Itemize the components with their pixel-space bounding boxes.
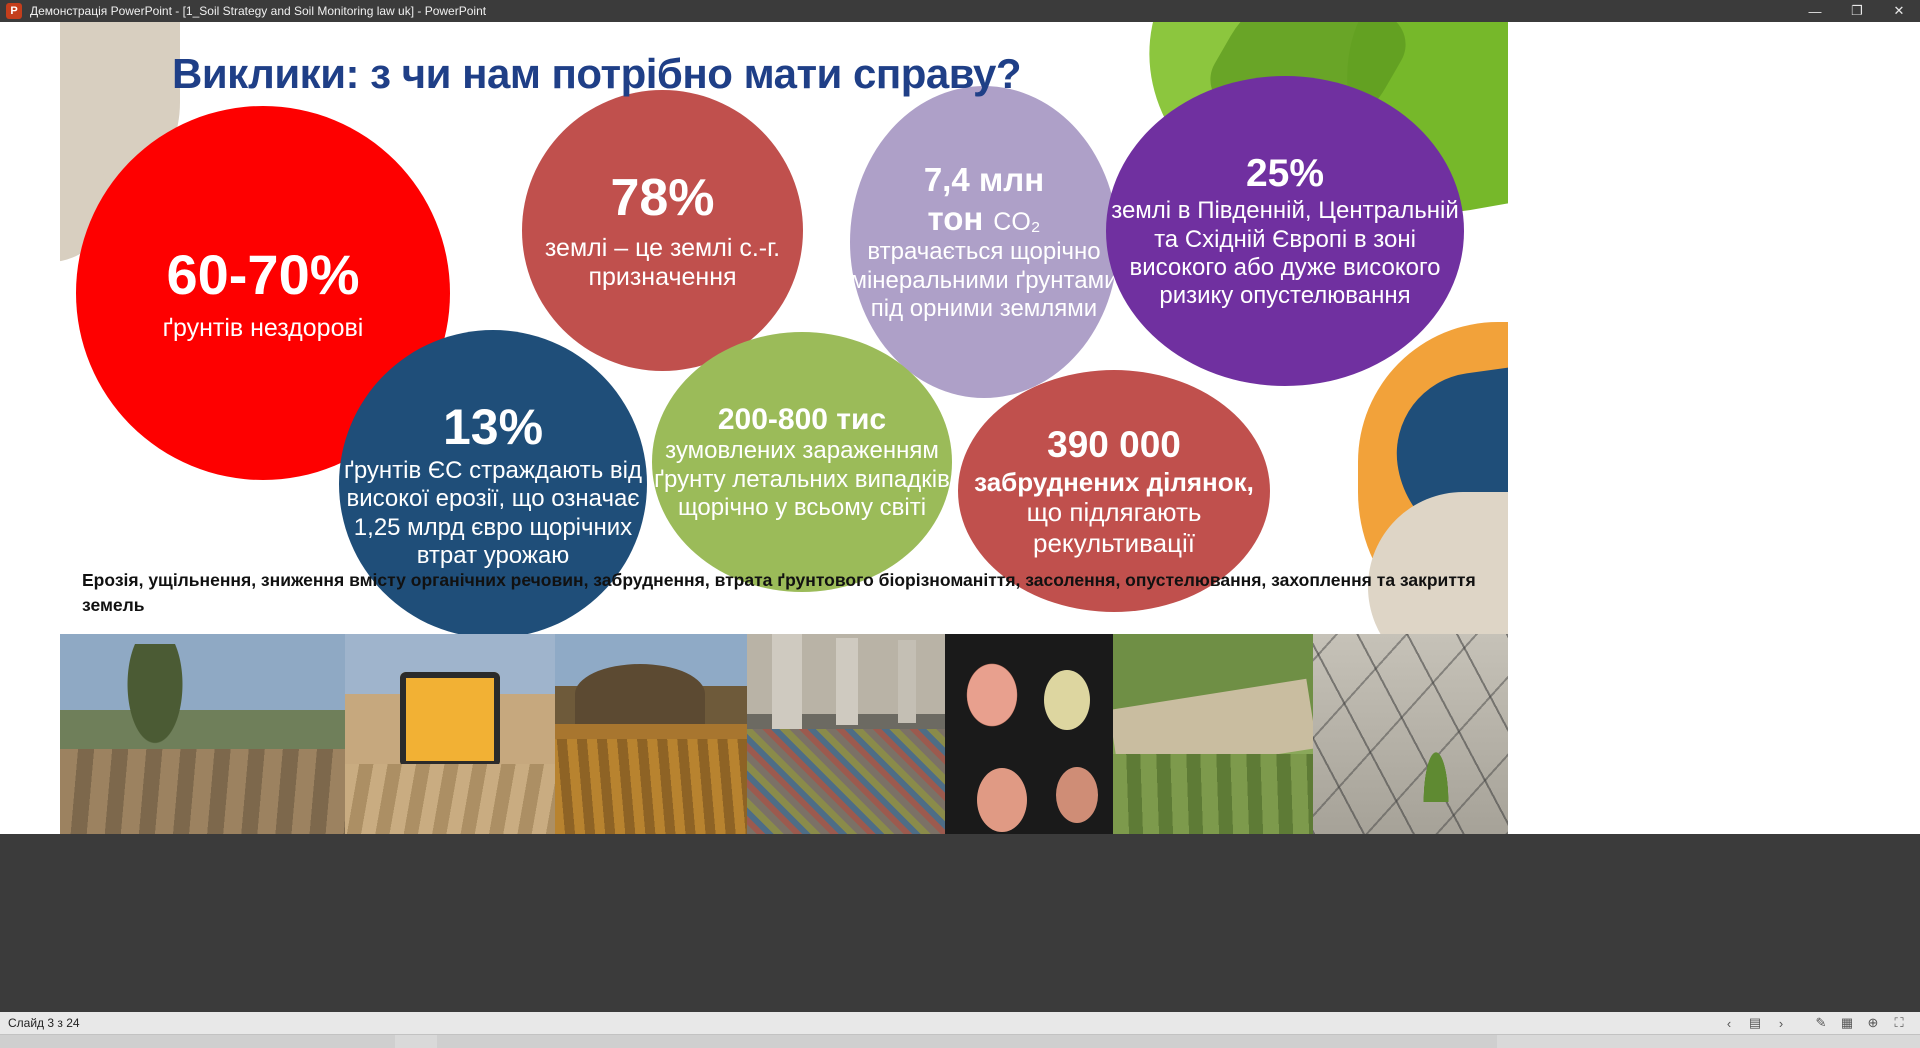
powerpoint-window: Демонстрація PowerPoint - [1_Soil Strate… (0, 0, 1920, 1048)
previous-slide-button[interactable]: ‹ (1716, 1012, 1742, 1034)
photo-soil-compaction-roller (345, 634, 555, 834)
bubble-78-headline: 78% (610, 168, 714, 229)
photo-salinization-cracked-soil (1113, 634, 1313, 834)
taskbar-strip (0, 1034, 1920, 1048)
slide-menu-button[interactable]: ▤ (1742, 1012, 1768, 1034)
taskbar-segment-right (437, 1035, 1497, 1048)
zoom-in-button[interactable]: ⊕ (1860, 1012, 1886, 1034)
photo-sealed-paving (1313, 634, 1508, 834)
photo-strip (60, 634, 1508, 834)
bubble-25-body: землі в Південній, Центральній та Східні… (1106, 197, 1464, 310)
next-slide-button[interactable]: › (1768, 1012, 1794, 1034)
slide-gutter-right (1508, 22, 1920, 834)
bubble-78: 78% землі – це землі с.-г. призначення (522, 90, 803, 371)
slide-title: Виклики: з чи нам потрібно мати справу? (172, 50, 1021, 98)
slide-indicator: Слайд 3 з 24 (8, 1016, 80, 1030)
minimize-button[interactable]: — (1794, 0, 1836, 22)
status-bar: Слайд 3 з 24 ‹ ▤ › ✎ ▦ ⊕ ⛶ (0, 1012, 1920, 1034)
bubble-60-70-headline: 60-70% (166, 242, 359, 308)
all-slides-button[interactable]: ▦ (1834, 1012, 1860, 1034)
slide-gutter-left (0, 22, 60, 834)
powerpoint-icon (6, 3, 22, 19)
bubble-7-4-mln: 7,4 млн тон CO₂ втрачається щорічно міне… (850, 86, 1118, 398)
close-button[interactable]: ✕ (1878, 0, 1920, 22)
bubble-7-4-headline-2: тон (927, 200, 983, 239)
bubble-390000-body-rest: що підлягають рекультивації (1027, 497, 1202, 558)
window-titlebar: Демонстрація PowerPoint - [1_Soil Strate… (0, 0, 1920, 22)
bubble-200-800-body: зумовлених зараженням ґрунту летальних в… (652, 437, 952, 522)
window-title: Демонстрація PowerPoint - [1_Soil Strate… (30, 4, 486, 18)
fit-slide-button[interactable]: ⛶ (1886, 1012, 1912, 1034)
bubble-200-800-headline: 200-800 тис (718, 402, 886, 437)
bubble-78-body: землі – це землі с.-г. призначення (522, 234, 803, 293)
bubble-25-headline: 25% (1246, 151, 1324, 197)
bubble-7-4-body: втрачається щорічно мінеральними ґрунтам… (850, 238, 1118, 323)
pen-tools-button[interactable]: ✎ (1808, 1012, 1834, 1034)
bubble-390000-body: забруднених ділянок, що підлягають рекул… (958, 467, 1270, 559)
bubble-60-70-body: ґрунтів нездорові (163, 314, 364, 344)
maximize-button[interactable]: ❐ (1836, 0, 1878, 22)
bubble-390000-body-bold: забруднених ділянок, (974, 467, 1254, 497)
bubble-13-headline: 13% (443, 398, 543, 457)
slide-bottom-note: Ерозія, ущільнення, зниження вмісту орга… (82, 568, 1492, 619)
bubble-200-800: 200-800 тис зумовлених зараженням ґрунту… (652, 332, 952, 592)
bubble-25: 25% землі в Південній, Центральній та Сх… (1106, 76, 1464, 386)
status-bar-controls: ‹ ▤ › ✎ ▦ ⊕ ⛶ (1716, 1012, 1912, 1034)
photo-peatland (555, 634, 747, 834)
slide-canvas[interactable]: Виклики: з чи нам потрібно мати справу? … (60, 22, 1508, 834)
bubble-13-body: ґрунтів ЄС страждають від високої ерозії… (339, 457, 647, 570)
bubble-390000-headline: 390 000 (1047, 423, 1181, 467)
bubble-7-4-headline: 7,4 млн (924, 161, 1044, 200)
window-controls: — ❐ ✕ (1794, 0, 1920, 22)
photo-soil-mites-biodiversity (945, 634, 1113, 834)
photo-landfill-pollution (747, 634, 945, 834)
photo-eroded-land (60, 634, 345, 834)
taskbar-segment-left (0, 1035, 395, 1048)
bubble-7-4-co2-label: CO₂ (993, 208, 1040, 238)
